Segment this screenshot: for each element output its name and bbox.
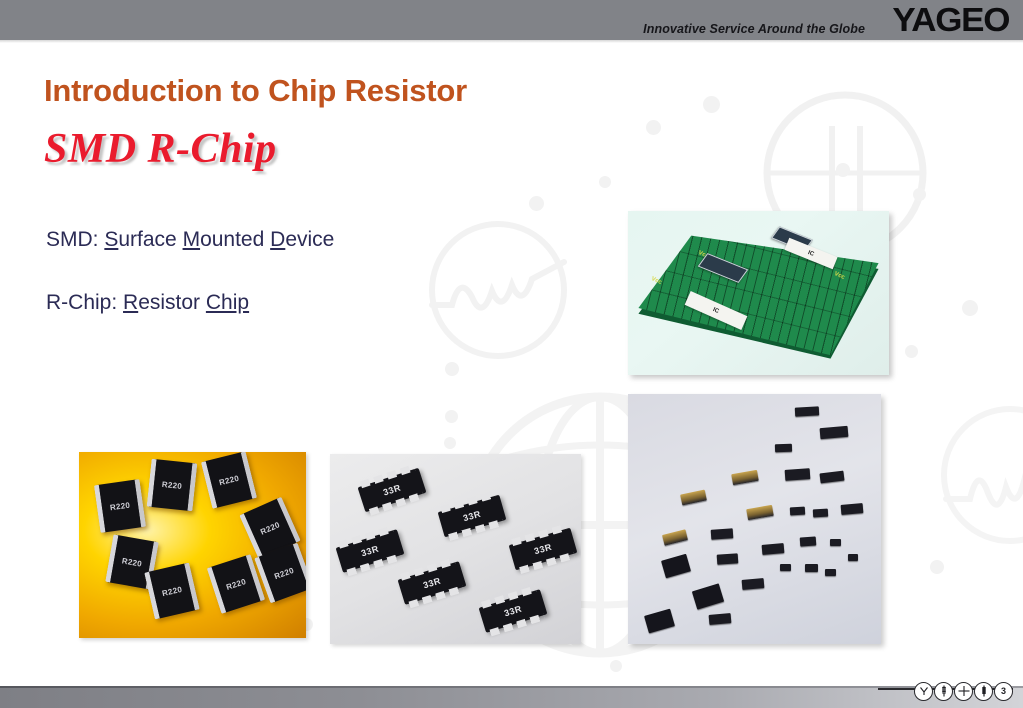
chip-marking: R220 xyxy=(161,585,183,598)
chip-item xyxy=(746,504,774,519)
rchip-part-esistor: esistor xyxy=(138,291,206,314)
smd-part-d: D xyxy=(270,228,285,251)
chip-item xyxy=(848,554,858,561)
chip-marking: R220 xyxy=(121,555,143,567)
chip-resistor: R220 xyxy=(145,563,201,620)
smd-part-evice: evice xyxy=(285,228,334,251)
watermark-inductor-center-left xyxy=(418,210,578,370)
chip-item xyxy=(790,506,805,515)
chip-item xyxy=(661,553,691,577)
chip-item xyxy=(820,425,849,438)
photo-chip-resistors-gold: R220 R220 R220 R220 R220 R220 R220 R220 xyxy=(79,452,306,638)
rchip-prefix: R-Chip: xyxy=(46,291,123,314)
chip-item xyxy=(825,569,836,576)
smd-part-urface: urface xyxy=(118,228,182,251)
photo-scattered-chips xyxy=(628,394,881,644)
smd-part-m: M xyxy=(183,228,201,251)
smd-part-s: S xyxy=(104,228,118,251)
array-marking: 33R xyxy=(462,509,482,524)
chip-item xyxy=(820,470,845,483)
chip-item xyxy=(775,444,792,453)
inductor-icon xyxy=(974,682,993,701)
chip-item xyxy=(716,553,738,564)
chip-item xyxy=(662,529,688,545)
watermark-dot xyxy=(529,196,544,211)
yageo-logo: YAGEO xyxy=(892,3,1009,37)
watermark-dot xyxy=(445,362,459,376)
chip-item xyxy=(805,564,818,572)
chip-item xyxy=(785,468,811,481)
chip-marking: R220 xyxy=(109,500,130,512)
rchip-part-r: R xyxy=(123,291,138,314)
watermark-dot xyxy=(610,660,622,672)
resistor-array: 33R xyxy=(478,590,547,634)
chip-item xyxy=(812,509,827,518)
chip-item xyxy=(840,503,863,515)
array-marking: 33R xyxy=(359,543,379,558)
chip-item xyxy=(800,536,817,546)
watermark-dot xyxy=(646,120,661,135)
chip-marking: R220 xyxy=(218,473,240,487)
photo-resistor-arrays: 33R 33R 33R 33R 33R 33R xyxy=(330,454,581,644)
chip-resistor: R220 xyxy=(147,459,198,512)
chip-item xyxy=(692,583,724,609)
watermark-dot xyxy=(962,300,978,316)
watermark-dot xyxy=(905,345,918,358)
antenna-icon xyxy=(914,682,933,701)
resistor-array: 33R xyxy=(398,561,467,605)
chip-item xyxy=(741,578,764,590)
page-subtitle: SMD R-Chip xyxy=(44,125,277,173)
chip-item xyxy=(731,469,759,484)
smd-part-ounted: ounted xyxy=(200,228,270,251)
array-marking: 33R xyxy=(382,482,402,497)
resistor-array: 33R xyxy=(358,468,427,513)
slide-canvas: Innovative Service Around the Globe YAGE… xyxy=(0,0,1023,708)
footer-bar xyxy=(0,688,1023,708)
watermark-dot xyxy=(913,188,926,201)
smd-prefix: SMD: xyxy=(46,228,104,251)
chip-marking: R220 xyxy=(225,576,247,591)
array-marking: 33R xyxy=(422,575,442,590)
slide-number: 3 xyxy=(994,682,1013,701)
chip-item xyxy=(780,564,791,571)
resistor-array: 33R xyxy=(438,495,507,538)
capacitor-icon xyxy=(954,682,973,701)
chip-resistor: R220 xyxy=(94,479,146,533)
resistor-array: 33R xyxy=(508,527,577,570)
watermark-dot xyxy=(836,163,850,177)
chip-item xyxy=(644,608,675,633)
header-tagline: Innovative Service Around the Globe xyxy=(643,22,865,36)
photo-pcb-demo-board: Vcc Vcc Vcc IC IC xyxy=(628,211,889,375)
chip-item xyxy=(795,406,819,416)
watermark-dot xyxy=(930,560,944,574)
coil-icon xyxy=(934,682,953,701)
header-bar xyxy=(0,0,1023,40)
smd-definition-line: SMD: Surface Mounted Device xyxy=(46,228,334,252)
rchip-part-chip: Chip xyxy=(206,291,249,314)
watermark-dot xyxy=(703,96,720,113)
chip-item xyxy=(709,613,732,625)
chip-item xyxy=(762,543,785,555)
chip-marking: R220 xyxy=(272,565,294,580)
header-shadow xyxy=(0,40,1023,43)
chip-item xyxy=(711,528,734,540)
watermark-dot xyxy=(599,176,611,188)
array-marking: 33R xyxy=(503,604,523,619)
watermark-inductor-right xyxy=(930,395,1023,555)
watermark-dot xyxy=(445,410,458,423)
pcb-traces xyxy=(638,231,878,356)
chip-marking: R220 xyxy=(162,480,183,491)
chip-marking: R220 xyxy=(259,520,281,536)
resistor-array: 33R xyxy=(335,529,404,573)
watermark-dot xyxy=(444,437,456,449)
chip-item xyxy=(830,539,841,546)
footer-icon-group: 3 xyxy=(914,680,1013,702)
chip-item xyxy=(680,489,707,505)
rchip-definition-line: R-Chip: Resistor Chip xyxy=(46,291,249,315)
array-marking: 33R xyxy=(533,541,553,556)
page-title: Introduction to Chip Resistor xyxy=(44,73,467,109)
chip-resistor: R220 xyxy=(201,452,257,509)
